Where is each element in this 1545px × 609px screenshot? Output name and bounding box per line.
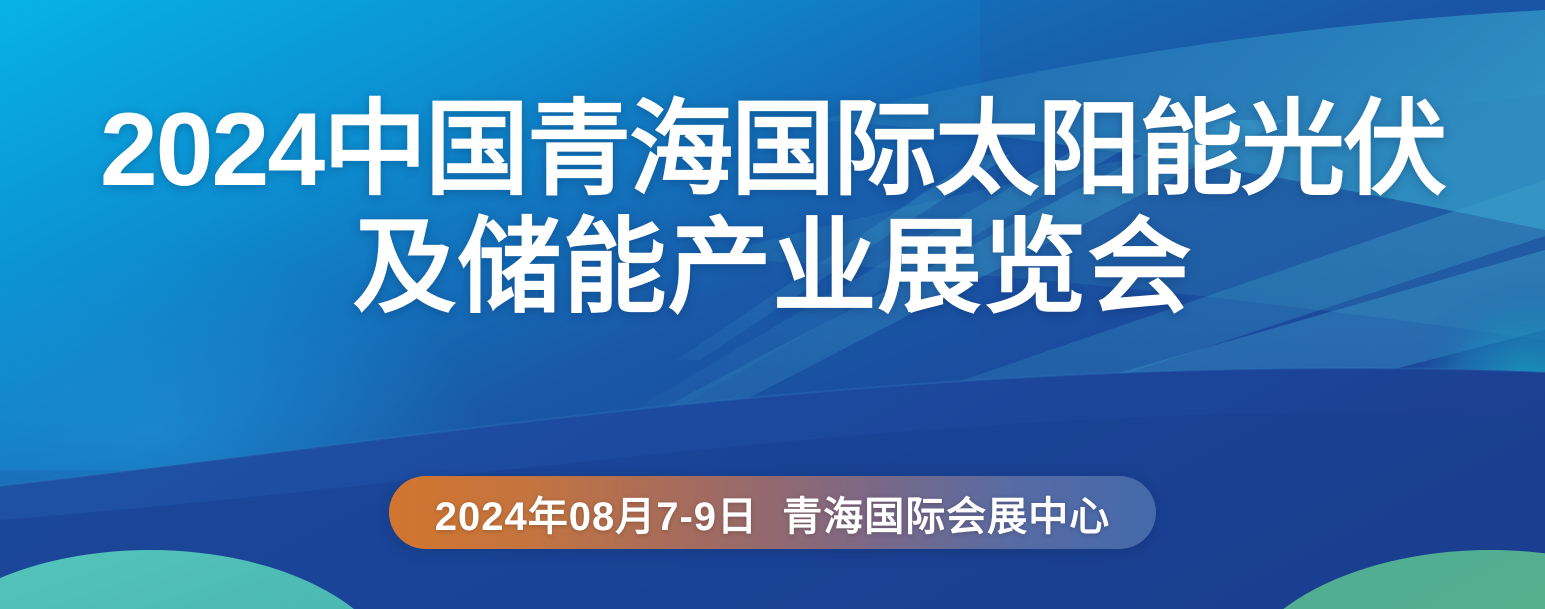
date-venue-pill[interactable]: 2024年08月7-9日 青海国际会展中心 <box>389 476 1157 549</box>
headline-line-1: 2024中国青海国际太阳能光伏 <box>0 96 1545 204</box>
event-banner: 2024中国青海国际太阳能光伏 及储能产业展览会 2024年08月7-9日 青海… <box>0 0 1545 609</box>
headline-line-2: 及储能产业展览会 <box>0 214 1545 322</box>
date-venue-pill-wrap: 2024年08月7-9日 青海国际会展中心 <box>0 476 1545 549</box>
date-venue-text: 2024年08月7-9日 青海国际会展中心 <box>435 484 1111 542</box>
headline: 2024中国青海国际太阳能光伏 及储能产业展览会 <box>0 96 1545 322</box>
banner-content: 2024中国青海国际太阳能光伏 及储能产业展览会 2024年08月7-9日 青海… <box>0 0 1545 609</box>
